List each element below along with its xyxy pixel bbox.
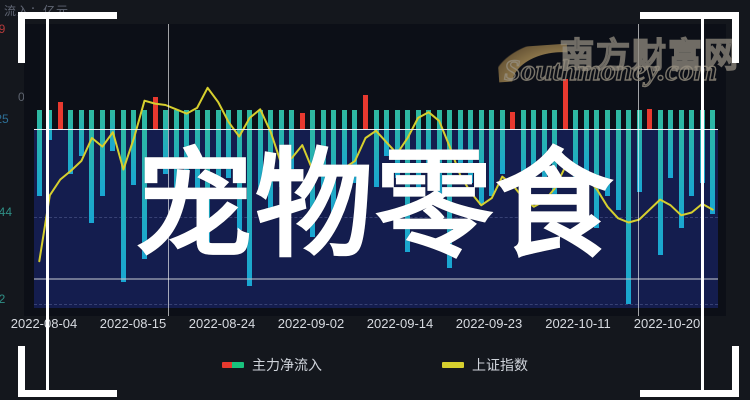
- legend-item-index[interactable]: 上证指数: [442, 355, 528, 375]
- legend-label-net-inflow: 主力净流入: [252, 355, 322, 375]
- legend-swatch-net-inflow-icon: [222, 362, 244, 368]
- vertical-crosshair-1: [168, 24, 169, 316]
- legend-label-index: 上证指数: [472, 355, 528, 375]
- chart-legend: 主力净流入 上证指数: [0, 352, 750, 378]
- y-axis-tick-0: 39: [0, 22, 5, 36]
- index-line-series: [34, 32, 718, 308]
- vertical-crosshair-2: [638, 24, 639, 316]
- x-axis-tick: 2022-10-11: [545, 316, 611, 331]
- legend-item-net-inflow[interactable]: 主力净流入: [222, 355, 322, 375]
- screenshot-root: 流入：亿元 39 0 .25 644 62 南方财富网 Southmoney.c…: [0, 0, 750, 400]
- x-axis-tick: 2022-10-20: [634, 316, 701, 331]
- y-axis-tick-4: 62: [0, 292, 5, 306]
- unit-label: 流入：亿元: [0, 0, 750, 22]
- x-axis-tick: 2022-09-14: [367, 316, 434, 331]
- y-axis-tick-2: .25: [0, 112, 9, 126]
- x-axis-tick: 2022-08-15: [100, 316, 167, 331]
- x-axis-tick: 2022-08-04: [11, 316, 78, 331]
- zero-crosshair-line: [34, 129, 718, 130]
- x-axis-tick: 2022-08-24: [189, 316, 256, 331]
- y-axis-tick-3: 644: [0, 205, 12, 219]
- x-axis-labels: 2022-08-042022-08-152022-08-242022-09-02…: [0, 316, 750, 342]
- x-axis-tick: 2022-09-02: [278, 316, 345, 331]
- plot-area[interactable]: [34, 32, 718, 308]
- chart-panel[interactable]: [24, 24, 726, 316]
- legend-swatch-index-icon: [442, 362, 464, 368]
- value-crosshair-line: [34, 278, 718, 280]
- x-axis-tick: 2022-09-23: [456, 316, 523, 331]
